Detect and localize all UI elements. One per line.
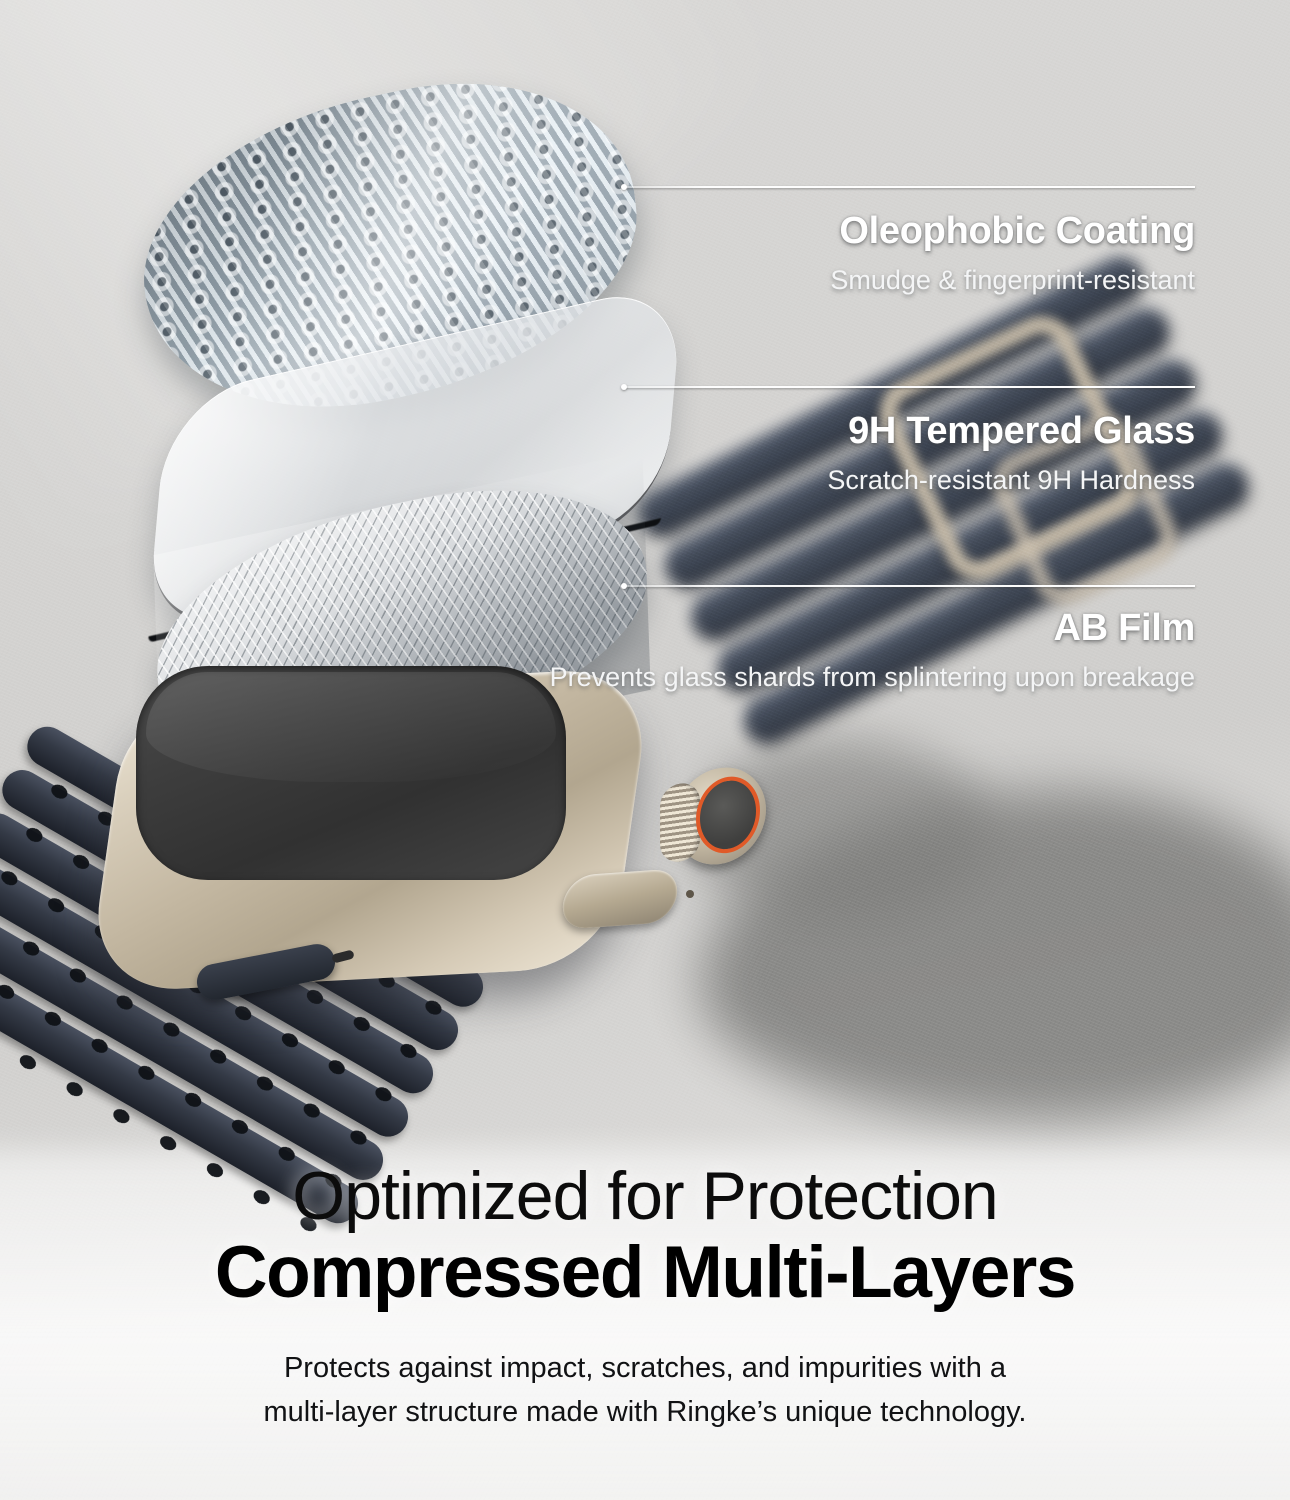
callout-description: Scratch-resistant 9H Hardness <box>827 463 1195 498</box>
callout-oleophobic-coating: Oleophobic Coating Smudge & fingerprint-… <box>830 186 1195 298</box>
footer-subcopy-line1: Protects against impact, scratches, and … <box>0 1346 1290 1390</box>
callout-description: Smudge & fingerprint-resistant <box>830 263 1195 298</box>
callout-tempered-glass: 9H Tempered Glass Scratch-resistant 9H H… <box>827 386 1195 498</box>
callout-leader-line <box>625 386 1195 388</box>
headline-secondary: Compressed Multi-Layers <box>0 1234 1290 1311</box>
crown-knurl <box>660 781 700 865</box>
product-feature-graphic: Oleophobic Coating Smudge & fingerprint-… <box>0 0 1290 1500</box>
crown-accent-ring <box>696 772 760 857</box>
callout-description: Prevents glass shards from splintering u… <box>550 660 1195 695</box>
callout-leader-line <box>625 186 1195 188</box>
callout-ab-film: AB Film Prevents glass shards from splin… <box>550 585 1195 695</box>
callout-title: 9H Tempered Glass <box>827 410 1195 453</box>
headline-primary: Optimized for Protection <box>0 1160 1290 1232</box>
callout-leader-line <box>625 585 1195 587</box>
callout-title: Oleophobic Coating <box>830 210 1195 253</box>
digital-crown <box>674 762 766 871</box>
smartwatch <box>100 640 760 1080</box>
callout-description-line1: Prevents glass shards from <box>550 662 877 692</box>
footer-subcopy: Protects against impact, scratches, and … <box>0 1346 1290 1434</box>
callout-description-line2: splintering upon breakage <box>884 662 1195 692</box>
callout-title: AB Film <box>550 607 1195 650</box>
microphone-hole <box>686 890 694 898</box>
footer-subcopy-line2: multi-layer structure made with Ringke’s… <box>0 1390 1290 1434</box>
footer-block: Optimized for Protection Compressed Mult… <box>0 1160 1290 1434</box>
watch-screen-gloss <box>146 672 556 782</box>
